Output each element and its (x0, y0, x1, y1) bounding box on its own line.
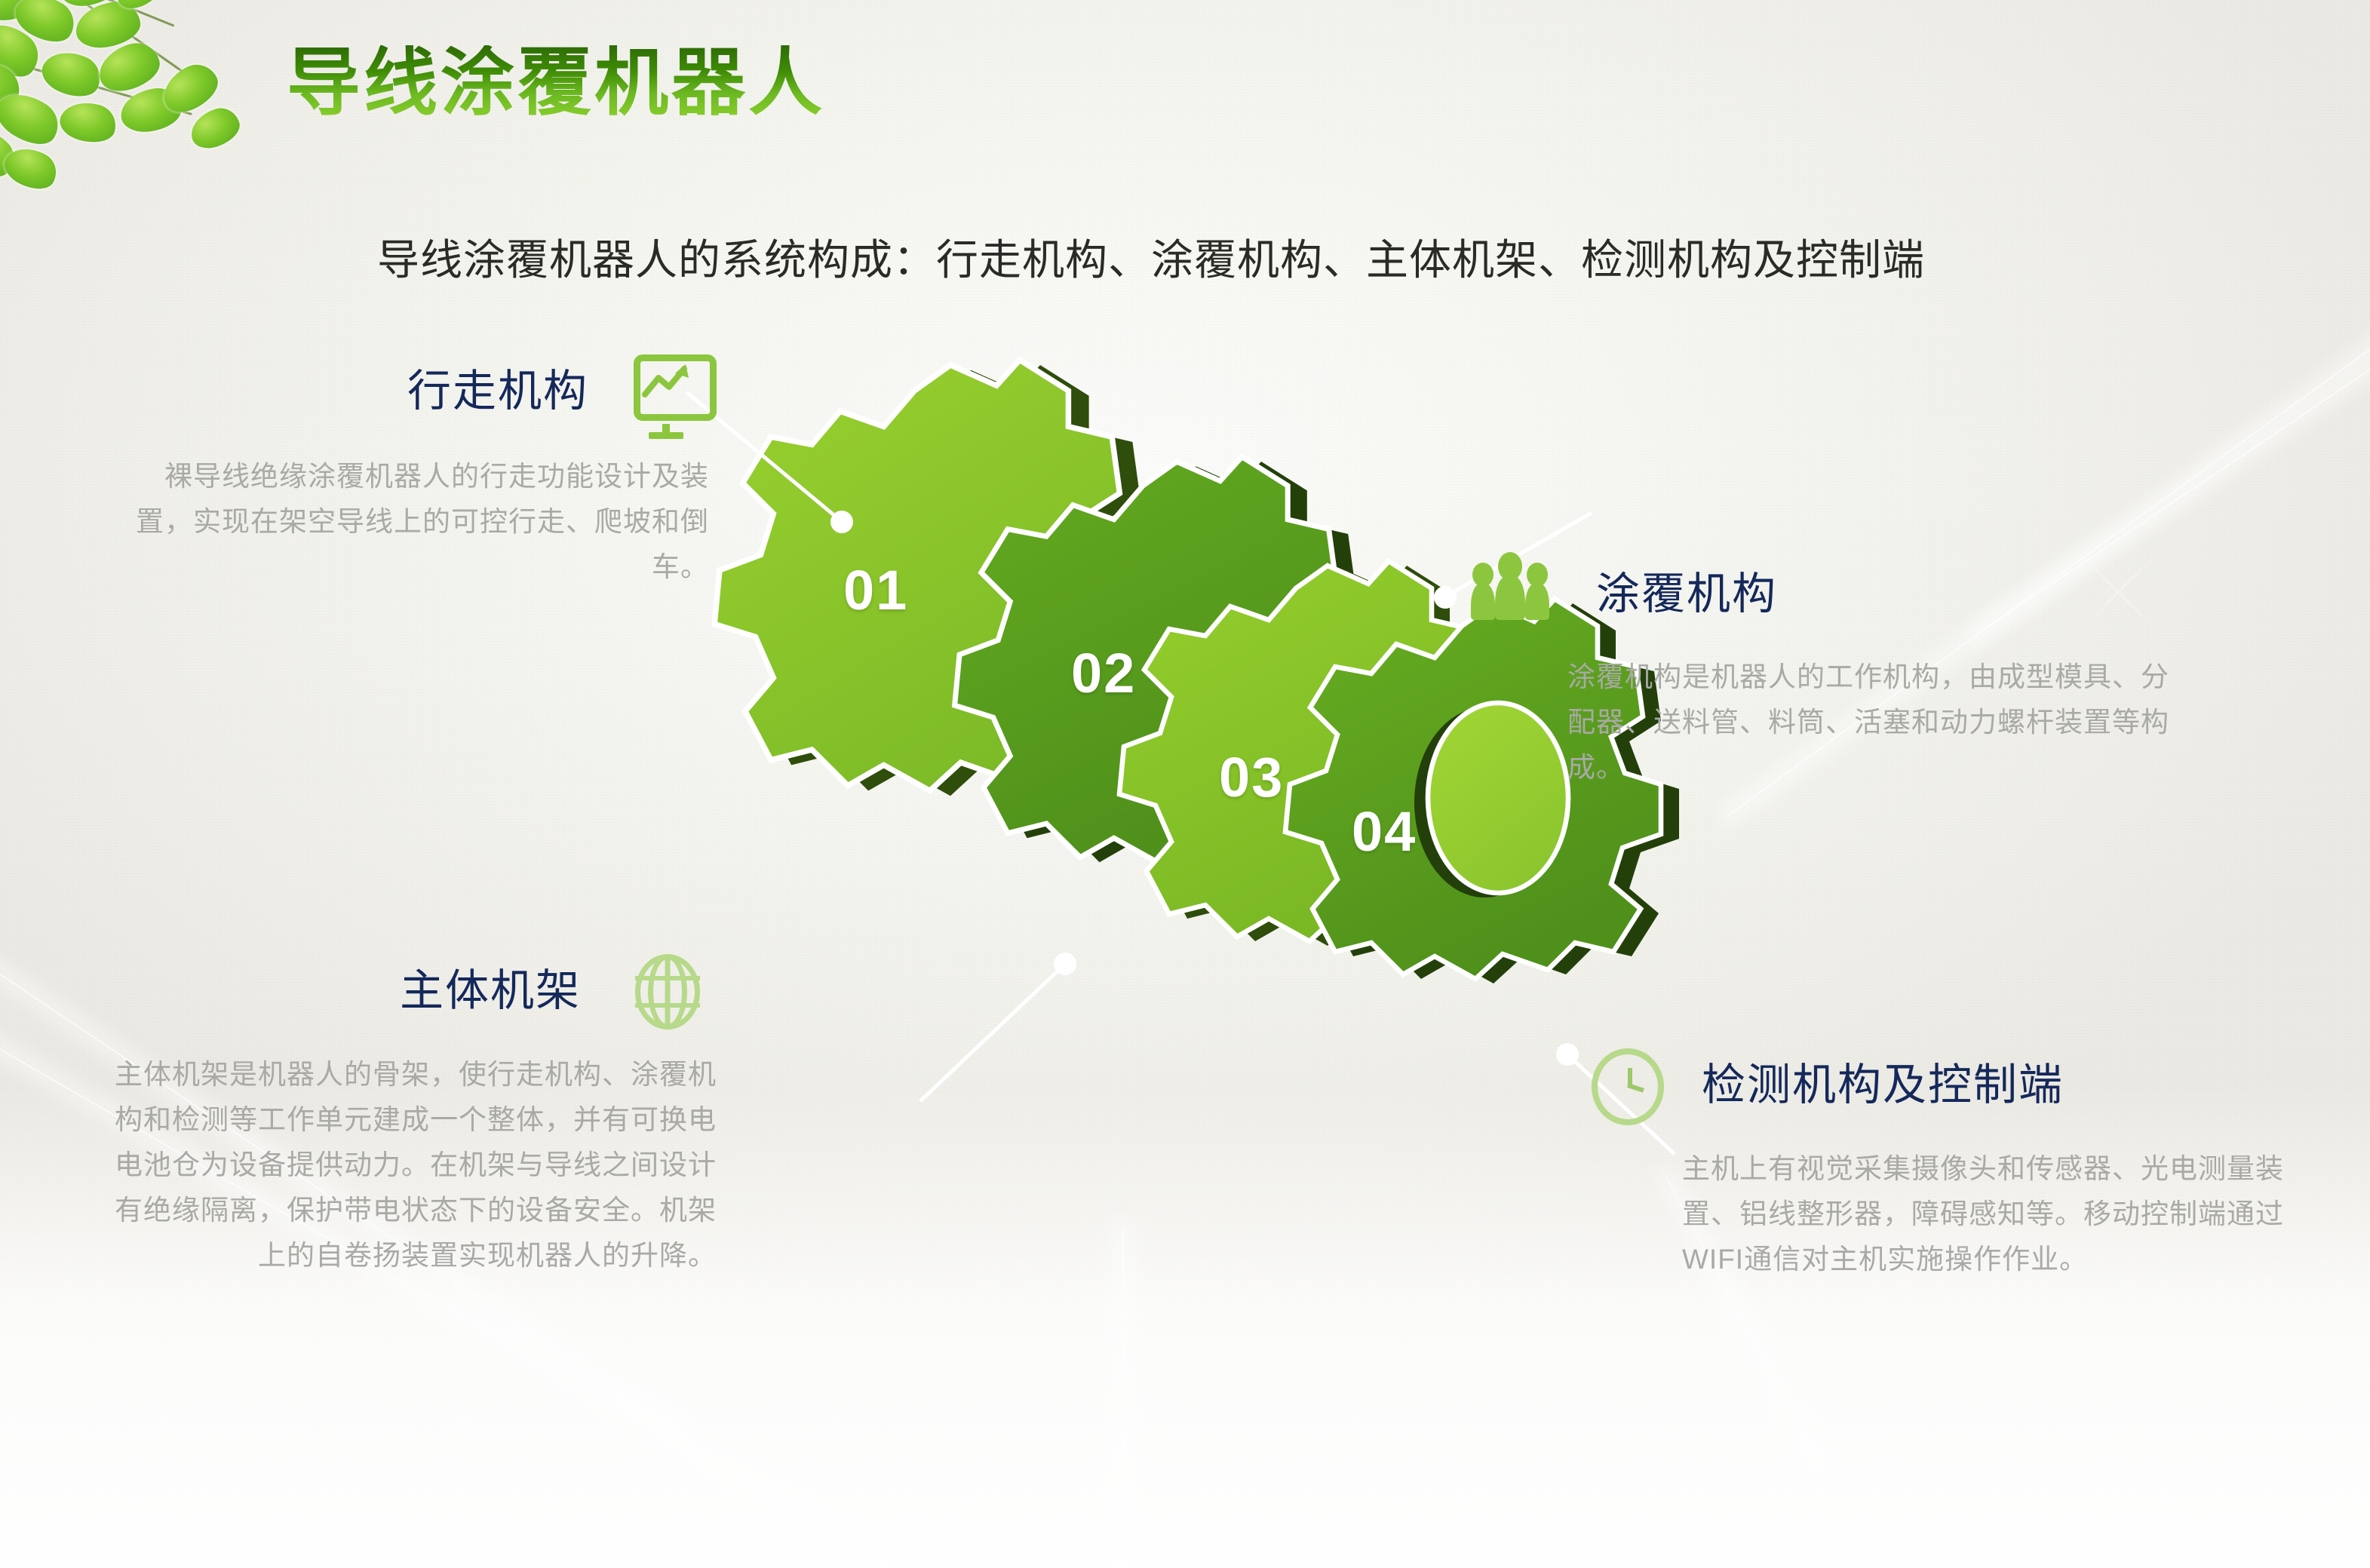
block-title-02: 涂覆机构 (1596, 558, 1777, 621)
block-title-03: 主体机架 (400, 955, 581, 1018)
monitor-chart-icon (634, 354, 698, 419)
page-subtitle: 导线涂覆机器人的系统构成：行走机构、涂覆机构、主体机架、检测机构及控制端 (377, 226, 1925, 287)
info-block-detection-control: 检测机构及控制端 主机上有视觉采集摄像头和传感器、光电测量装置、铝线整形器，障碍… (1592, 1048, 2301, 1282)
block-header-03: 主体机架 (113, 954, 717, 1019)
globe-icon (635, 954, 700, 1019)
slide-canvas: 导线涂覆机器人 导线涂覆机器人的系统构成：行走机构、涂覆机构、主体机架、检测机构… (0, 0, 2370, 1568)
gear-cluster-graphic: 01 02 (709, 332, 1675, 1282)
block-title-01: 行走机构 (407, 355, 588, 419)
info-block-walking-mechanism: 行走机构 裸导线绝缘涂覆机器人的行走功能设计及装置，实现在架空导线上的可控行走、… (113, 354, 709, 590)
gear-number-04: 04 (1352, 799, 1417, 864)
block-body-01: 裸导线绝缘涂覆机器人的行走功能设计及装置，实现在架空导线上的可控行走、爬坡和倒车… (113, 454, 709, 590)
info-block-coating-mechanism: 涂覆机构 涂覆机构是机器人的工作机构，由成型模具、分配器、送料管、料筒、活塞和动… (1471, 558, 2187, 790)
block-title-04: 检测机构及控制端 (1702, 1049, 2064, 1112)
block-body-02: 涂覆机构是机器人的工作机构，由成型模具、分配器、送料管、料筒、活塞和动力螺杆装置… (1471, 655, 2187, 790)
block-body-04: 主机上有视觉采集摄像头和传感器、光电测量装置、铝线整形器，障碍感知等。移动控制端… (1592, 1146, 2301, 1282)
page-title: 导线涂覆机器人 (287, 45, 825, 119)
clock-icon (1592, 1048, 1656, 1113)
green-leaves-decoration (0, 0, 287, 256)
gear-number-01: 01 (843, 558, 908, 622)
block-body-03: 主体机架是机器人的骨架，使行走机构、涂覆机构和检测等工作单元建成一个整体，并有可… (113, 1052, 717, 1278)
block-header-01: 行走机构 (113, 354, 709, 419)
block-header-02: 涂覆机构 (1471, 558, 2187, 621)
info-block-main-frame: 主体机架 主体机架是机器人的骨架，使行走机构、涂覆机构和检测等工作单元建成一个整… (113, 954, 717, 1278)
block-header-04: 检测机构及控制端 (1592, 1048, 2301, 1113)
people-group-icon (1471, 560, 1549, 620)
